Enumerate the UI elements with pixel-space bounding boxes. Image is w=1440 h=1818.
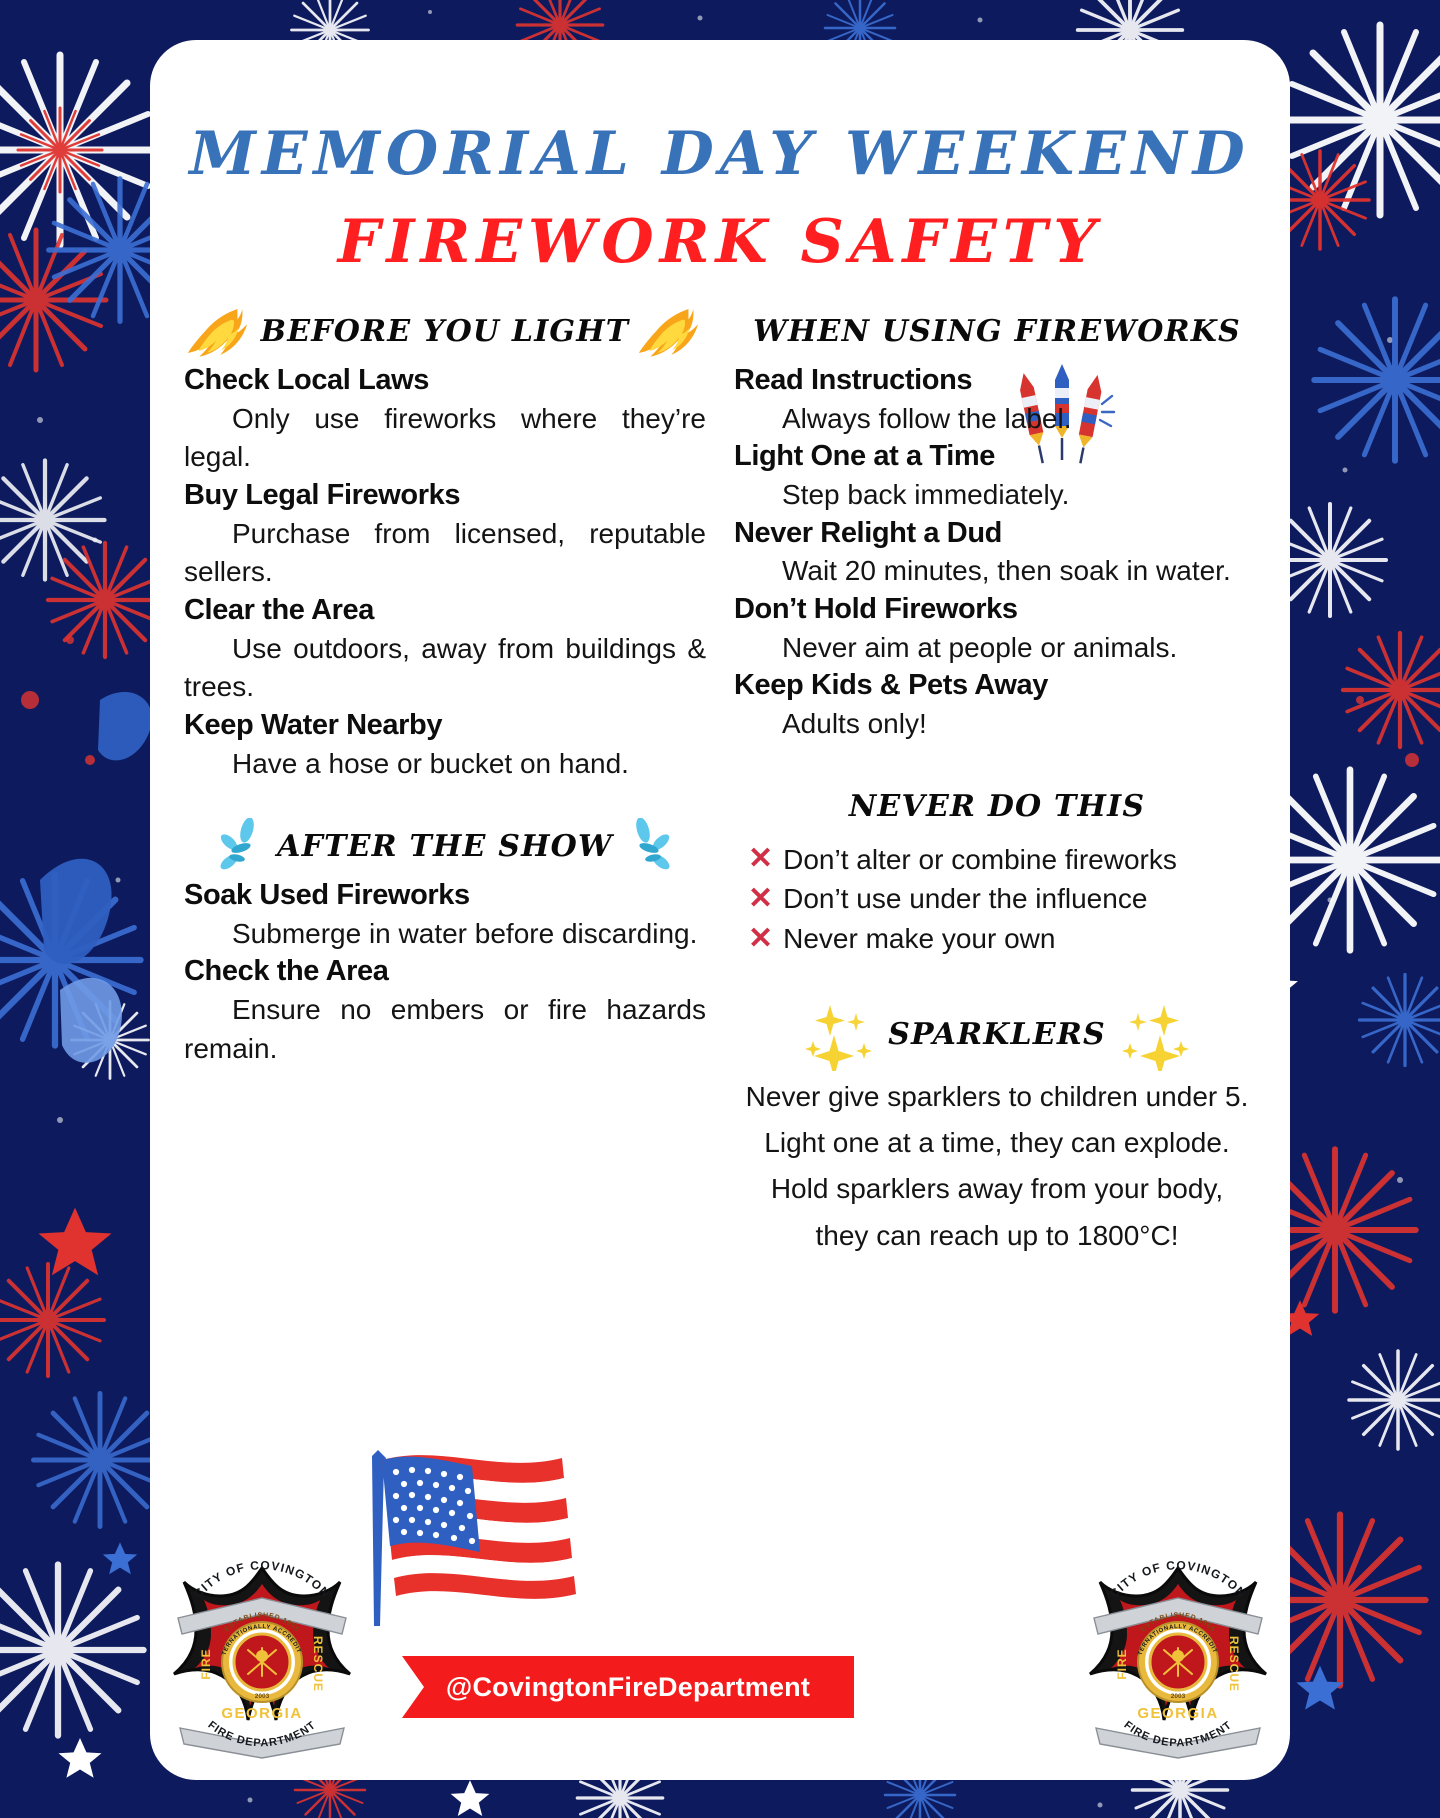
never-list-item: ✕ Never make your own	[734, 919, 1260, 959]
tip-body: Never aim at people or animals.	[734, 629, 1260, 668]
badge-right-arm-text: RESCUE	[1227, 1636, 1241, 1692]
never-list-item: ✕ Don’t use under the influence	[734, 879, 1260, 919]
x-mark-icon: ✕	[748, 924, 773, 954]
sparkle-icon	[804, 999, 882, 1071]
badge-left-arm-text: FIRE	[1115, 1648, 1129, 1679]
tip-item: Buy Legal Fireworks Purchase from licens…	[184, 477, 706, 592]
flame-icon	[184, 302, 255, 360]
social-handle-text: @CovingtonFireDepartment	[402, 1656, 854, 1718]
tip-title: Keep Kids & Pets Away	[734, 667, 1260, 705]
poster-footer: @CovingtonFireDepartment CITY OF COVINGT…	[150, 1420, 1290, 1780]
sparklers-line: Light one at a time, they can explode.	[734, 1123, 1260, 1163]
tip-body: Use outdoors, away from buildings & tree…	[184, 630, 706, 707]
never-item-text: Don’t alter or combine fireworks	[783, 840, 1177, 880]
tip-title: Soak Used Fireworks	[184, 877, 706, 915]
section-label-sparklers: SPARKLERS	[888, 1017, 1106, 1052]
tip-item: Keep Kids & Pets Away Adults only!	[734, 667, 1260, 743]
title-line-2: FIREWORK SAFETY	[150, 212, 1290, 272]
us-flag-icon	[350, 1440, 580, 1630]
tip-item: Read Instructions Always follow the labe…	[734, 362, 1260, 438]
tip-body: Have a hose or bucket on hand.	[184, 745, 706, 784]
section-header-during: WHEN USING FIREWORKS	[734, 302, 1260, 360]
x-mark-icon: ✕	[748, 844, 773, 874]
section-label-after: AFTER THE SHOW	[277, 829, 613, 864]
poster-title-block: MEMORIAL DAY WEEKEND FIREWORK SAFETY	[150, 40, 1290, 272]
content-columns: BEFORE YOU LIGHT Check Local Laws Only u…	[150, 302, 1290, 1256]
tip-title: Keep Water Nearby	[184, 707, 706, 745]
tip-title: Never Relight a Dud	[734, 515, 1260, 553]
fire-department-badge-icon: CITY OF COVINGTON FIRE RESCUE ESTABLISHE…	[162, 1552, 362, 1762]
sparklers-line: Never give sparklers to children under 5…	[734, 1077, 1260, 1117]
tip-item: Light One at a Time Step back immediatel…	[734, 438, 1260, 514]
tip-body: Always follow the label.	[734, 400, 1260, 439]
badge-right-arm-text: RESCUE	[311, 1636, 325, 1692]
poster-card: MEMORIAL DAY WEEKEND FIREWORK SAFETY	[150, 40, 1290, 1780]
sparkle-icon	[1112, 999, 1190, 1071]
tip-title: Buy Legal Fireworks	[184, 477, 706, 515]
tip-item: Don’t Hold Fireworks Never aim at people…	[734, 591, 1260, 667]
sparklers-line: they can reach up to 1800°C!	[734, 1216, 1260, 1256]
tip-title: Clear the Area	[184, 592, 706, 630]
sparklers-paragraph: Never give sparklers to children under 5…	[734, 1077, 1260, 1256]
tip-body: Step back immediately.	[734, 476, 1260, 515]
water-splash-icon	[619, 818, 675, 874]
badge-left-arm-text: FIRE	[199, 1648, 213, 1679]
never-do-list: ✕ Don’t alter or combine fireworks ✕ Don…	[734, 840, 1260, 959]
section-label-never: NEVER DO THIS	[849, 789, 1145, 824]
section-header-sparklers: SPARKLERS	[734, 999, 1260, 1071]
tip-body: Only use fireworks where they’re legal.	[184, 400, 706, 477]
badge-accredited-year: 2003	[255, 1693, 270, 1700]
water-splash-icon	[215, 818, 271, 874]
tip-body: Submerge in water before discarding.	[184, 915, 706, 954]
tip-title: Don’t Hold Fireworks	[734, 591, 1260, 629]
tip-item: Check Local Laws Only use fireworks wher…	[184, 362, 706, 477]
sparklers-line: Hold sparklers away from your body,	[734, 1169, 1260, 1209]
right-column: WHEN USING FIREWORKS Read Instructions A…	[720, 302, 1290, 1256]
tip-item: Soak Used Fireworks Submerge in water be…	[184, 877, 706, 953]
left-column: BEFORE YOU LIGHT Check Local Laws Only u…	[150, 302, 720, 1256]
tip-body: Adults only!	[734, 705, 1260, 744]
badge-accredited-year: 2003	[1171, 1693, 1186, 1700]
section-header-after: AFTER THE SHOW	[184, 817, 706, 875]
fire-department-badge-icon: CITY OF COVINGTON FIRE RESCUE ESTABLISHE…	[1078, 1552, 1278, 1762]
section-header-before: BEFORE YOU LIGHT	[184, 302, 706, 360]
tip-item: Clear the Area Use outdoors, away from b…	[184, 592, 706, 707]
never-item-text: Don’t use under the influence	[783, 879, 1147, 919]
tip-body: Purchase from licensed, reputable seller…	[184, 515, 706, 592]
badge-state-text: GEORGIA	[221, 1705, 302, 1722]
tip-title: Check Local Laws	[184, 362, 706, 400]
tip-title: Light One at a Time	[734, 438, 1260, 476]
never-item-text: Never make your own	[783, 919, 1055, 959]
tip-item: Check the Area Ensure no embers or fire …	[184, 953, 706, 1068]
never-list-item: ✕ Don’t alter or combine fireworks	[734, 840, 1260, 880]
tip-title: Check the Area	[184, 953, 706, 991]
tip-item: Keep Water Nearby Have a hose or bucket …	[184, 707, 706, 783]
tip-title: Read Instructions	[734, 362, 1260, 400]
badge-state-text: GEORGIA	[1137, 1705, 1218, 1722]
tip-body: Ensure no embers or fire hazards remain.	[184, 991, 706, 1068]
title-line-1: MEMORIAL DAY WEEKEND	[150, 124, 1290, 184]
x-mark-icon: ✕	[748, 884, 773, 914]
tip-body: Wait 20 minutes, then soak in water.	[734, 552, 1260, 591]
section-header-never: NEVER DO THIS	[734, 778, 1260, 836]
section-label-before: BEFORE YOU LIGHT	[261, 314, 630, 349]
section-label-during: WHEN USING FIREWORKS	[753, 314, 1241, 349]
tip-item: Never Relight a Dud Wait 20 minutes, the…	[734, 515, 1260, 591]
flame-icon	[635, 302, 706, 360]
